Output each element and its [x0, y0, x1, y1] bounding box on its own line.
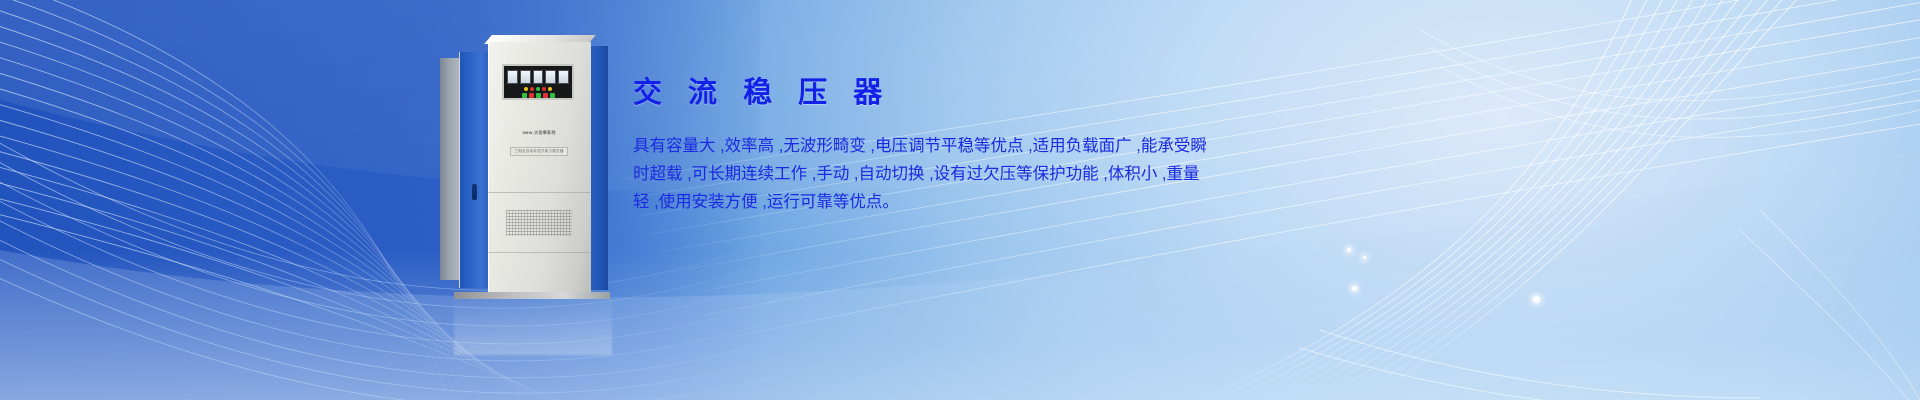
product-description: 具有容量大 ,效率高 ,无波形畸变 ,电压调节平稳等优点 ,适用负载面广 ,能承…	[633, 132, 1173, 216]
glow-dot	[1363, 256, 1366, 259]
indicator-led	[548, 87, 552, 91]
cabinet-body: SBW-大功率系列 三相全自动补偿式电力稳压器	[440, 42, 615, 294]
product-label-model: SBW-大功率系列	[498, 130, 580, 136]
banner-copy: 交 流 稳 压 器 具有容量大 ,效率高 ,无波形畸变 ,电压调节平稳等优点 ,…	[633, 78, 1173, 216]
glow-dot	[1533, 296, 1540, 303]
cabinet-base-plinth	[454, 292, 610, 299]
analog-meter	[533, 70, 544, 84]
product-label-description: 三相全自动补偿式电力稳压器	[510, 147, 567, 156]
indicator-led-row	[507, 87, 569, 91]
meter-row	[507, 70, 569, 84]
control-button	[529, 93, 534, 98]
control-button	[550, 93, 555, 98]
analog-meter	[545, 70, 556, 84]
ventilation-grille	[506, 210, 572, 236]
analog-meter	[558, 70, 569, 84]
cabinet-left-side-panel	[440, 58, 461, 280]
cabinet-blue-door-right	[590, 46, 608, 290]
glow-dot	[1347, 248, 1351, 252]
description-line: 具有容量大 ,效率高 ,无波形畸变 ,电压调节平稳等优点 ,适用负载面广 ,能承…	[633, 132, 1173, 160]
page-title: 交 流 稳 压 器	[633, 78, 1173, 110]
cabinet-blue-door-left	[459, 52, 490, 288]
indicator-led	[542, 87, 546, 91]
indicator-led	[536, 87, 540, 91]
control-panel	[502, 64, 574, 100]
background-floor-sheen	[0, 250, 1920, 400]
indicator-led	[530, 87, 534, 91]
control-button-row	[507, 93, 569, 98]
glow-dot	[1352, 286, 1357, 291]
door-handle	[472, 184, 477, 200]
analog-meter	[520, 70, 531, 84]
analog-meter	[507, 70, 518, 84]
product-image-stabilizer: SBW-大功率系列 三相全自动补偿式电力稳压器	[440, 42, 615, 317]
cabinet-seam	[488, 192, 590, 193]
cabinet-seam	[488, 252, 590, 253]
control-button	[543, 93, 548, 98]
floor-reflection	[454, 299, 612, 355]
product-label-plate: SBW-大功率系列 三相全自动补偿式电力稳压器	[498, 130, 580, 160]
indicator-led	[524, 87, 528, 91]
control-button	[522, 93, 527, 98]
description-line: 时超载 ,可长期连续工作 ,手动 ,自动切换 ,设有过欠压等保护功能 ,体积小 …	[633, 160, 1173, 188]
description-line: 轻 ,使用安装方便 ,运行可靠等优点。	[633, 188, 1173, 216]
control-button	[536, 93, 541, 98]
product-banner: SBW-大功率系列 三相全自动补偿式电力稳压器 交 流 稳 压 器 具有容量大 …	[0, 0, 1920, 400]
